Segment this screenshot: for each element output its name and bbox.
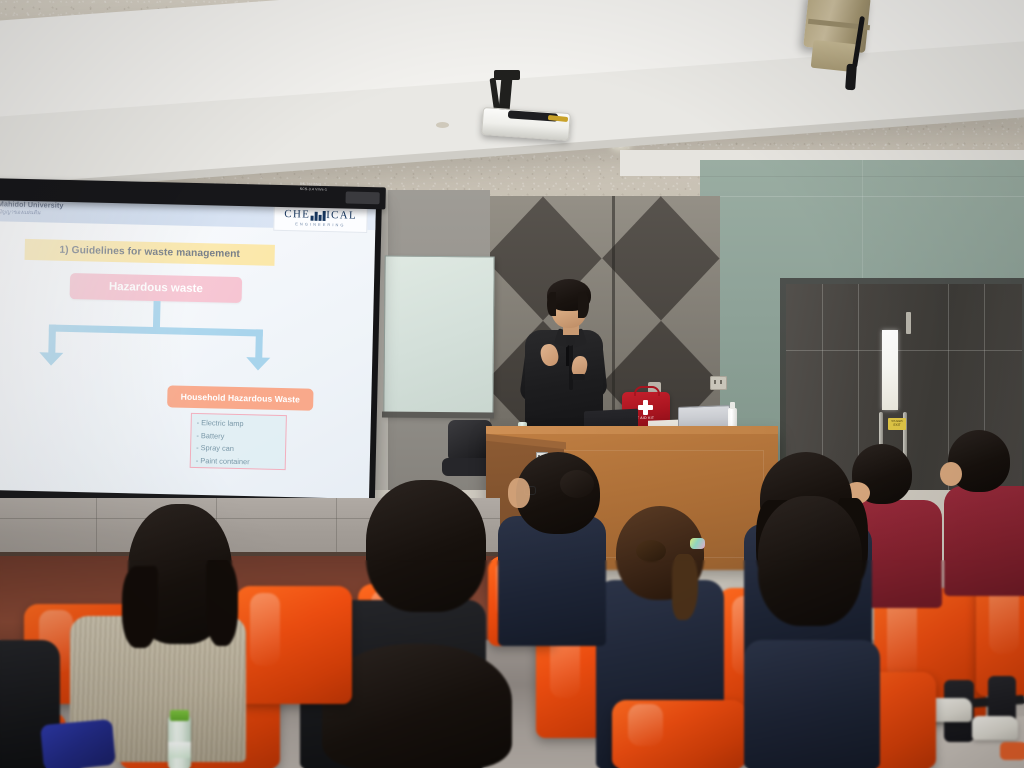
water-bottle-label	[168, 742, 191, 758]
podium-top-surface	[486, 426, 778, 434]
audience-face	[508, 478, 530, 508]
audience-jeans	[232, 736, 302, 768]
case-label-line2: SCS-3.4 Vm/s-1	[300, 187, 356, 193]
sneaker	[930, 698, 972, 722]
microphone-head-icon	[566, 336, 575, 346]
whiteboard-tray	[382, 412, 494, 419]
screen-glare	[0, 196, 376, 505]
blue-bag	[40, 719, 116, 768]
chair[interactable]	[236, 586, 352, 704]
screen-case-label: RS-762-1NG SCS-3.4 Vm/s-1	[300, 182, 356, 197]
exit-sign-label: ทางออก EXIT	[888, 420, 906, 427]
audience-torso	[944, 486, 1024, 596]
wall-power-outlet	[710, 376, 727, 390]
projector-ceiling-plate	[494, 70, 520, 80]
hair-bun	[636, 540, 666, 562]
water-bottle-cap	[170, 710, 189, 721]
door-glass-panel	[882, 330, 898, 410]
hair-bun	[560, 470, 594, 498]
floor-object-orange	[1000, 742, 1024, 760]
presenter-hair-side-right	[578, 292, 589, 318]
sneaker	[972, 716, 1018, 740]
audience-face	[940, 462, 962, 486]
wall-seam-3	[862, 160, 863, 280]
audience-hair-strand	[206, 560, 238, 646]
hand-sanitizer-cap	[730, 402, 735, 409]
presenter-hair-side-left	[547, 292, 556, 316]
exit-sign: ทางออก EXIT	[888, 418, 906, 430]
presenter-wristwatch	[572, 374, 585, 380]
panel-center-seam	[612, 196, 615, 446]
chair[interactable]	[612, 700, 746, 768]
audience-torso	[498, 516, 606, 646]
medical-cross-icon-h	[638, 405, 653, 410]
audience-hair-strand	[122, 566, 158, 648]
audience-head	[366, 480, 486, 612]
hand-sanitizer-bottle	[728, 408, 737, 428]
door-groove-h1	[786, 350, 1022, 351]
audience-torso	[744, 640, 880, 768]
projection-screen: Mahidol University ปัญญาของแผ่นดิน CHE I…	[0, 196, 376, 505]
audience-ponytail	[672, 554, 698, 620]
lecture-hall-photo: ทางออก EXIT Mahidol University ปัญญาของแ…	[0, 0, 1024, 768]
whiteboard	[383, 256, 494, 417]
first-aid-kit-handle	[634, 386, 660, 396]
audience-head	[758, 496, 862, 626]
speaker-cable-connector	[845, 64, 857, 91]
smoke-detector-icon	[436, 122, 449, 128]
hair-clip	[690, 538, 705, 549]
door-closer-plate	[906, 312, 911, 334]
